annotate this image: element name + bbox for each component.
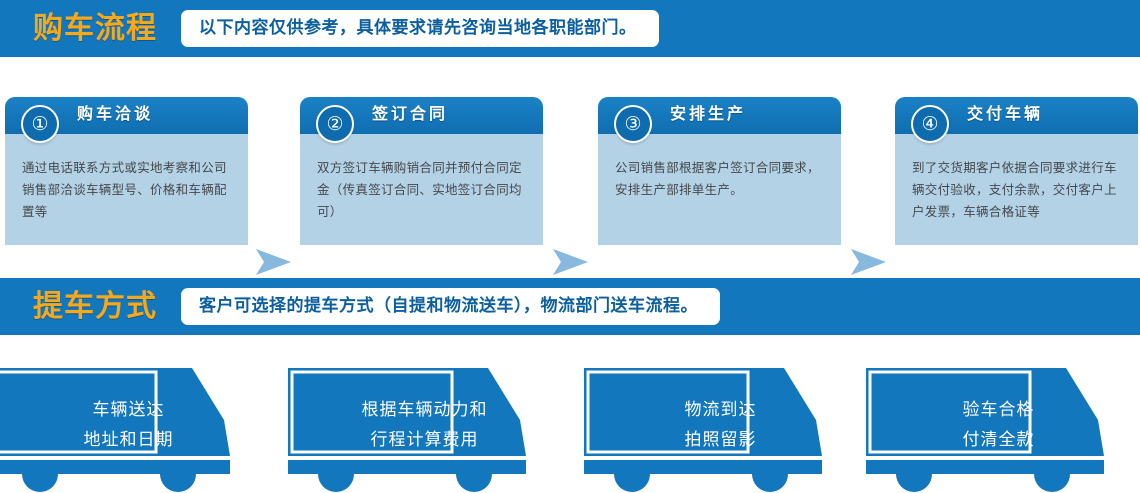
step-body-4: 到了交货期客户依据合同要求进行车辆交付验收，支付余款，交付客户上户发票，车辆合格… (895, 134, 1138, 245)
banner-note-text-purchase-process: 以下内容仅供参考，具体要求请先咨询当地各职能部门。 (199, 20, 637, 37)
delivery-truck-row: 车辆送达 地址和日期 根据车辆动力和 行程计算费用 (0, 368, 1140, 493)
step-number-badge-1: ① (21, 105, 59, 143)
truck-card-3[interactable]: 物流到达 拍照留影 (584, 368, 864, 493)
truck-card-4[interactable]: 验车合格 付清全款 (866, 368, 1140, 493)
step-title-4: 交付车辆 (967, 106, 1043, 122)
step-number-badge-2: ② (316, 105, 354, 143)
step-header-3: ③ 安排生产 (598, 97, 841, 134)
arrow-right-icon-3 (850, 247, 888, 277)
step-number-badge-4: ④ (911, 105, 949, 143)
step-header-1: ① 购车洽谈 (5, 97, 248, 134)
truck-icon-4 (866, 368, 1140, 493)
step-body-3: 公司销售部根据客户签订合同要求，安排生产部排单生产。 (598, 134, 841, 245)
step-number-badge-3: ③ (614, 105, 652, 143)
banner-title-pickup-method: 提车方式 (33, 292, 157, 322)
step-title-3: 安排生产 (670, 106, 746, 122)
step-body-2: 双方签订车辆购销合同并预付合同定金（传真签订合同、实地签订合同均可） (300, 134, 543, 245)
arrow-right-icon-1 (255, 247, 293, 277)
step-description-4: 到了交货期客户依据合同要求进行车辆交付验收，支付余款，交付客户上户发票，车辆合格… (912, 157, 1122, 223)
step-header-2: ② 签订合同 (300, 97, 543, 134)
truck-card-2[interactable]: 根据车辆动力和 行程计算费用 (288, 368, 568, 493)
infographic-canvas: 购车流程 以下内容仅供参考，具体要求请先咨询当地各职能部门。 ① 购车洽谈 通过… (0, 0, 1140, 493)
step-description-3: 公司销售部根据客户签订合同要求，安排生产部排单生产。 (615, 157, 825, 201)
step-card-4[interactable]: ④ 交付车辆 到了交货期客户依据合同要求进行车辆交付验收，支付余款，交付客户上户… (895, 97, 1138, 245)
process-steps-row: ① 购车洽谈 通过电话联系方式或实地考察和公司销售部洽谈车辆型号、价格和车辆配置… (0, 97, 1140, 245)
banner-pickup-method: 提车方式 客户可选择的提车方式（自提和物流送车），物流部门送车流程。 (0, 278, 1140, 335)
step-card-2[interactable]: ② 签订合同 双方签订车辆购销合同并预付合同定金（传真签订合同、实地签订合同均可… (300, 97, 543, 245)
truck-icon-2 (288, 368, 568, 493)
banner-note-text-pickup-method: 客户可选择的提车方式（自提和物流送车），物流部门送车流程。 (199, 298, 698, 315)
step-title-2: 签订合同 (372, 106, 448, 122)
truck-icon-3 (584, 368, 864, 493)
step-card-3[interactable]: ③ 安排生产 公司销售部根据客户签订合同要求，安排生产部排单生产。 (598, 97, 841, 245)
banner-purchase-process: 购车流程 以下内容仅供参考，具体要求请先咨询当地各职能部门。 (0, 0, 1140, 57)
truck-card-1[interactable]: 车辆送达 地址和日期 (0, 368, 272, 493)
banner-note-pill-purchase-process: 以下内容仅供参考，具体要求请先咨询当地各职能部门。 (181, 10, 659, 47)
banner-title-purchase-process: 购车流程 (33, 14, 157, 44)
step-description-1: 通过电话联系方式或实地考察和公司销售部洽谈车辆型号、价格和车辆配置等 (22, 157, 232, 223)
banner-note-pill-pickup-method: 客户可选择的提车方式（自提和物流送车），物流部门送车流程。 (181, 288, 720, 325)
step-body-1: 通过电话联系方式或实地考察和公司销售部洽谈车辆型号、价格和车辆配置等 (5, 134, 248, 245)
step-description-2: 双方签订车辆购销合同并预付合同定金（传真签订合同、实地签订合同均可） (317, 157, 527, 223)
step-card-1[interactable]: ① 购车洽谈 通过电话联系方式或实地考察和公司销售部洽谈车辆型号、价格和车辆配置… (5, 97, 248, 245)
truck-icon-1 (0, 368, 272, 493)
step-title-1: 购车洽谈 (77, 106, 153, 122)
step-header-4: ④ 交付车辆 (895, 97, 1138, 134)
arrow-right-icon-2 (552, 247, 590, 277)
